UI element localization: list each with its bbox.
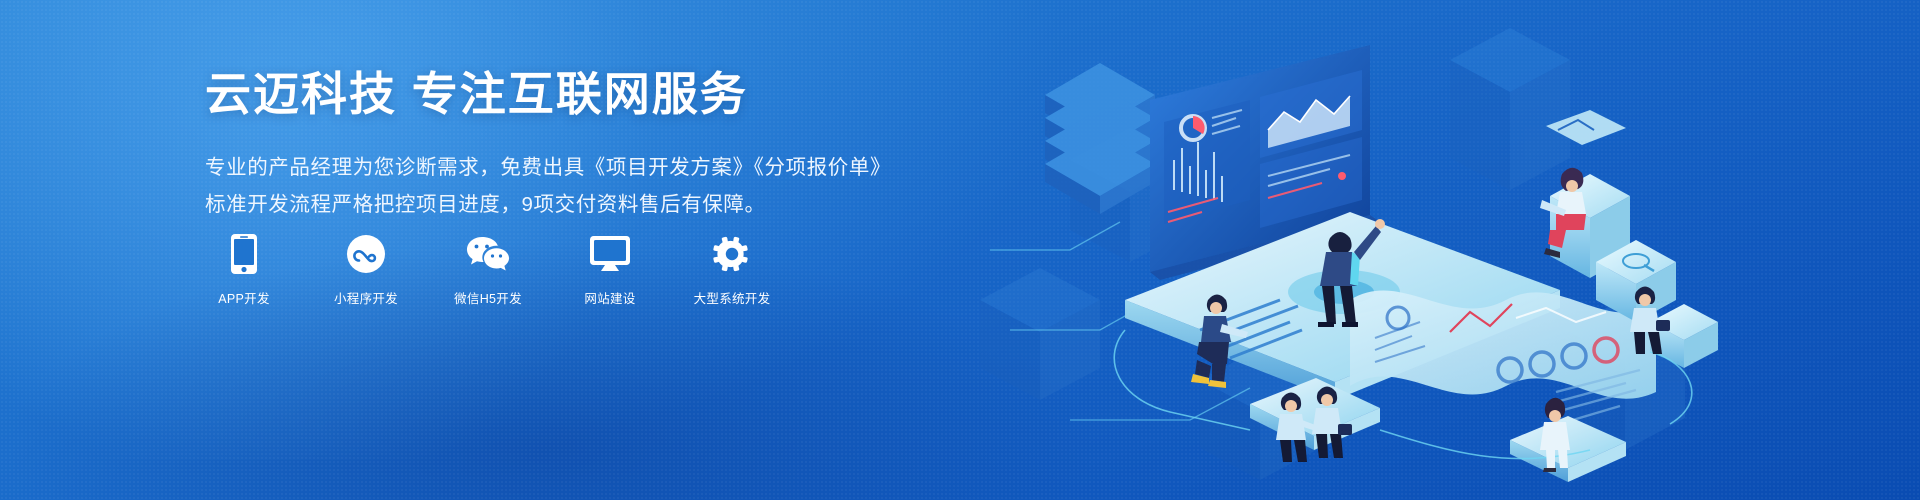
mini-program-icon [346,232,386,276]
wechat-icon [466,232,510,276]
service-label: APP开发 [218,288,270,307]
service-label: 网站建设 [584,288,635,307]
isometric-tech-dashboard-illustration [950,0,1750,500]
service-item-mini-program[interactable]: 小程序开发 [327,232,405,307]
service-label: 大型系统开发 [694,288,771,307]
subtitle-line-2: 标准开发流程严格把控项目进度，9项交付资料售后有保障。 [205,187,905,222]
hero-banner: 云迈科技 专注互联网服务 专业的产品经理为您诊断需求，免费出具《项目开发方案》《… [0,0,1920,500]
service-item-wechat-h5[interactable]: 微信H5开发 [449,232,527,307]
service-item-app[interactable]: APP开发 [205,232,283,307]
page-title: 云迈科技 专注互联网服务 [205,66,905,124]
service-label: 小程序开发 [334,288,398,307]
service-item-website[interactable]: 网站建设 [571,232,649,307]
monitor-icon [589,232,631,276]
service-item-large-system[interactable]: 大型系统开发 [693,232,771,307]
mobile-phone-icon [230,232,258,276]
service-icon-list: APP开发 小程序开发 [205,232,771,307]
subtitle-line-1: 专业的产品经理为您诊断需求，免费出具《项目开发方案》《分项报价单》 [205,150,905,185]
hero-text-block: 云迈科技 专注互联网服务 专业的产品经理为您诊断需求，免费出具《项目开发方案》《… [205,66,905,222]
service-label: 微信H5开发 [454,288,522,307]
gear-icon [712,232,752,276]
